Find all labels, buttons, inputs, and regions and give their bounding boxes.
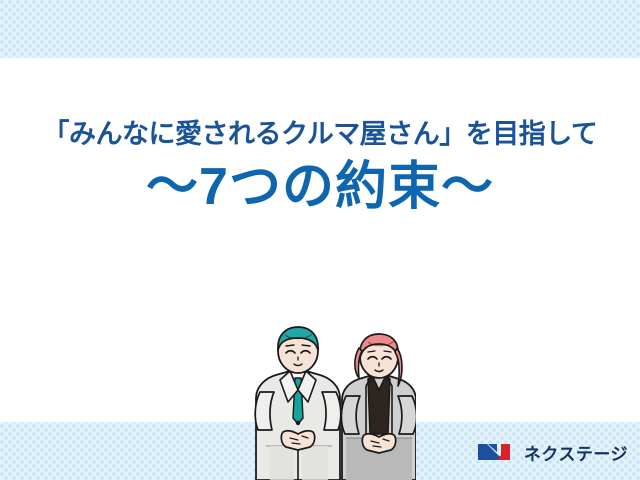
two-bowing-staff-illustration xyxy=(236,326,416,480)
headline-primary: 「みんなに愛されるクルマ屋さん」を目指して xyxy=(0,58,640,148)
male-staff-figure xyxy=(255,327,341,480)
nextage-n-logo-icon xyxy=(477,440,517,469)
headline-secondary: ～7つの約束～ xyxy=(0,148,640,215)
content-panel: 「みんなに愛されるクルマ屋さん」を目指して ～7つの約束～ xyxy=(0,58,640,422)
brand-name: ネクステージ xyxy=(524,446,628,463)
female-staff-figure xyxy=(341,334,416,480)
slide-canvas: 「みんなに愛されるクルマ屋さん」を目指して ～7つの約束～ xyxy=(0,0,640,480)
headline-block: 「みんなに愛されるクルマ屋さん」を目指して ～7つの約束～ xyxy=(0,58,640,215)
brand-logo: ネクステージ xyxy=(477,440,628,468)
